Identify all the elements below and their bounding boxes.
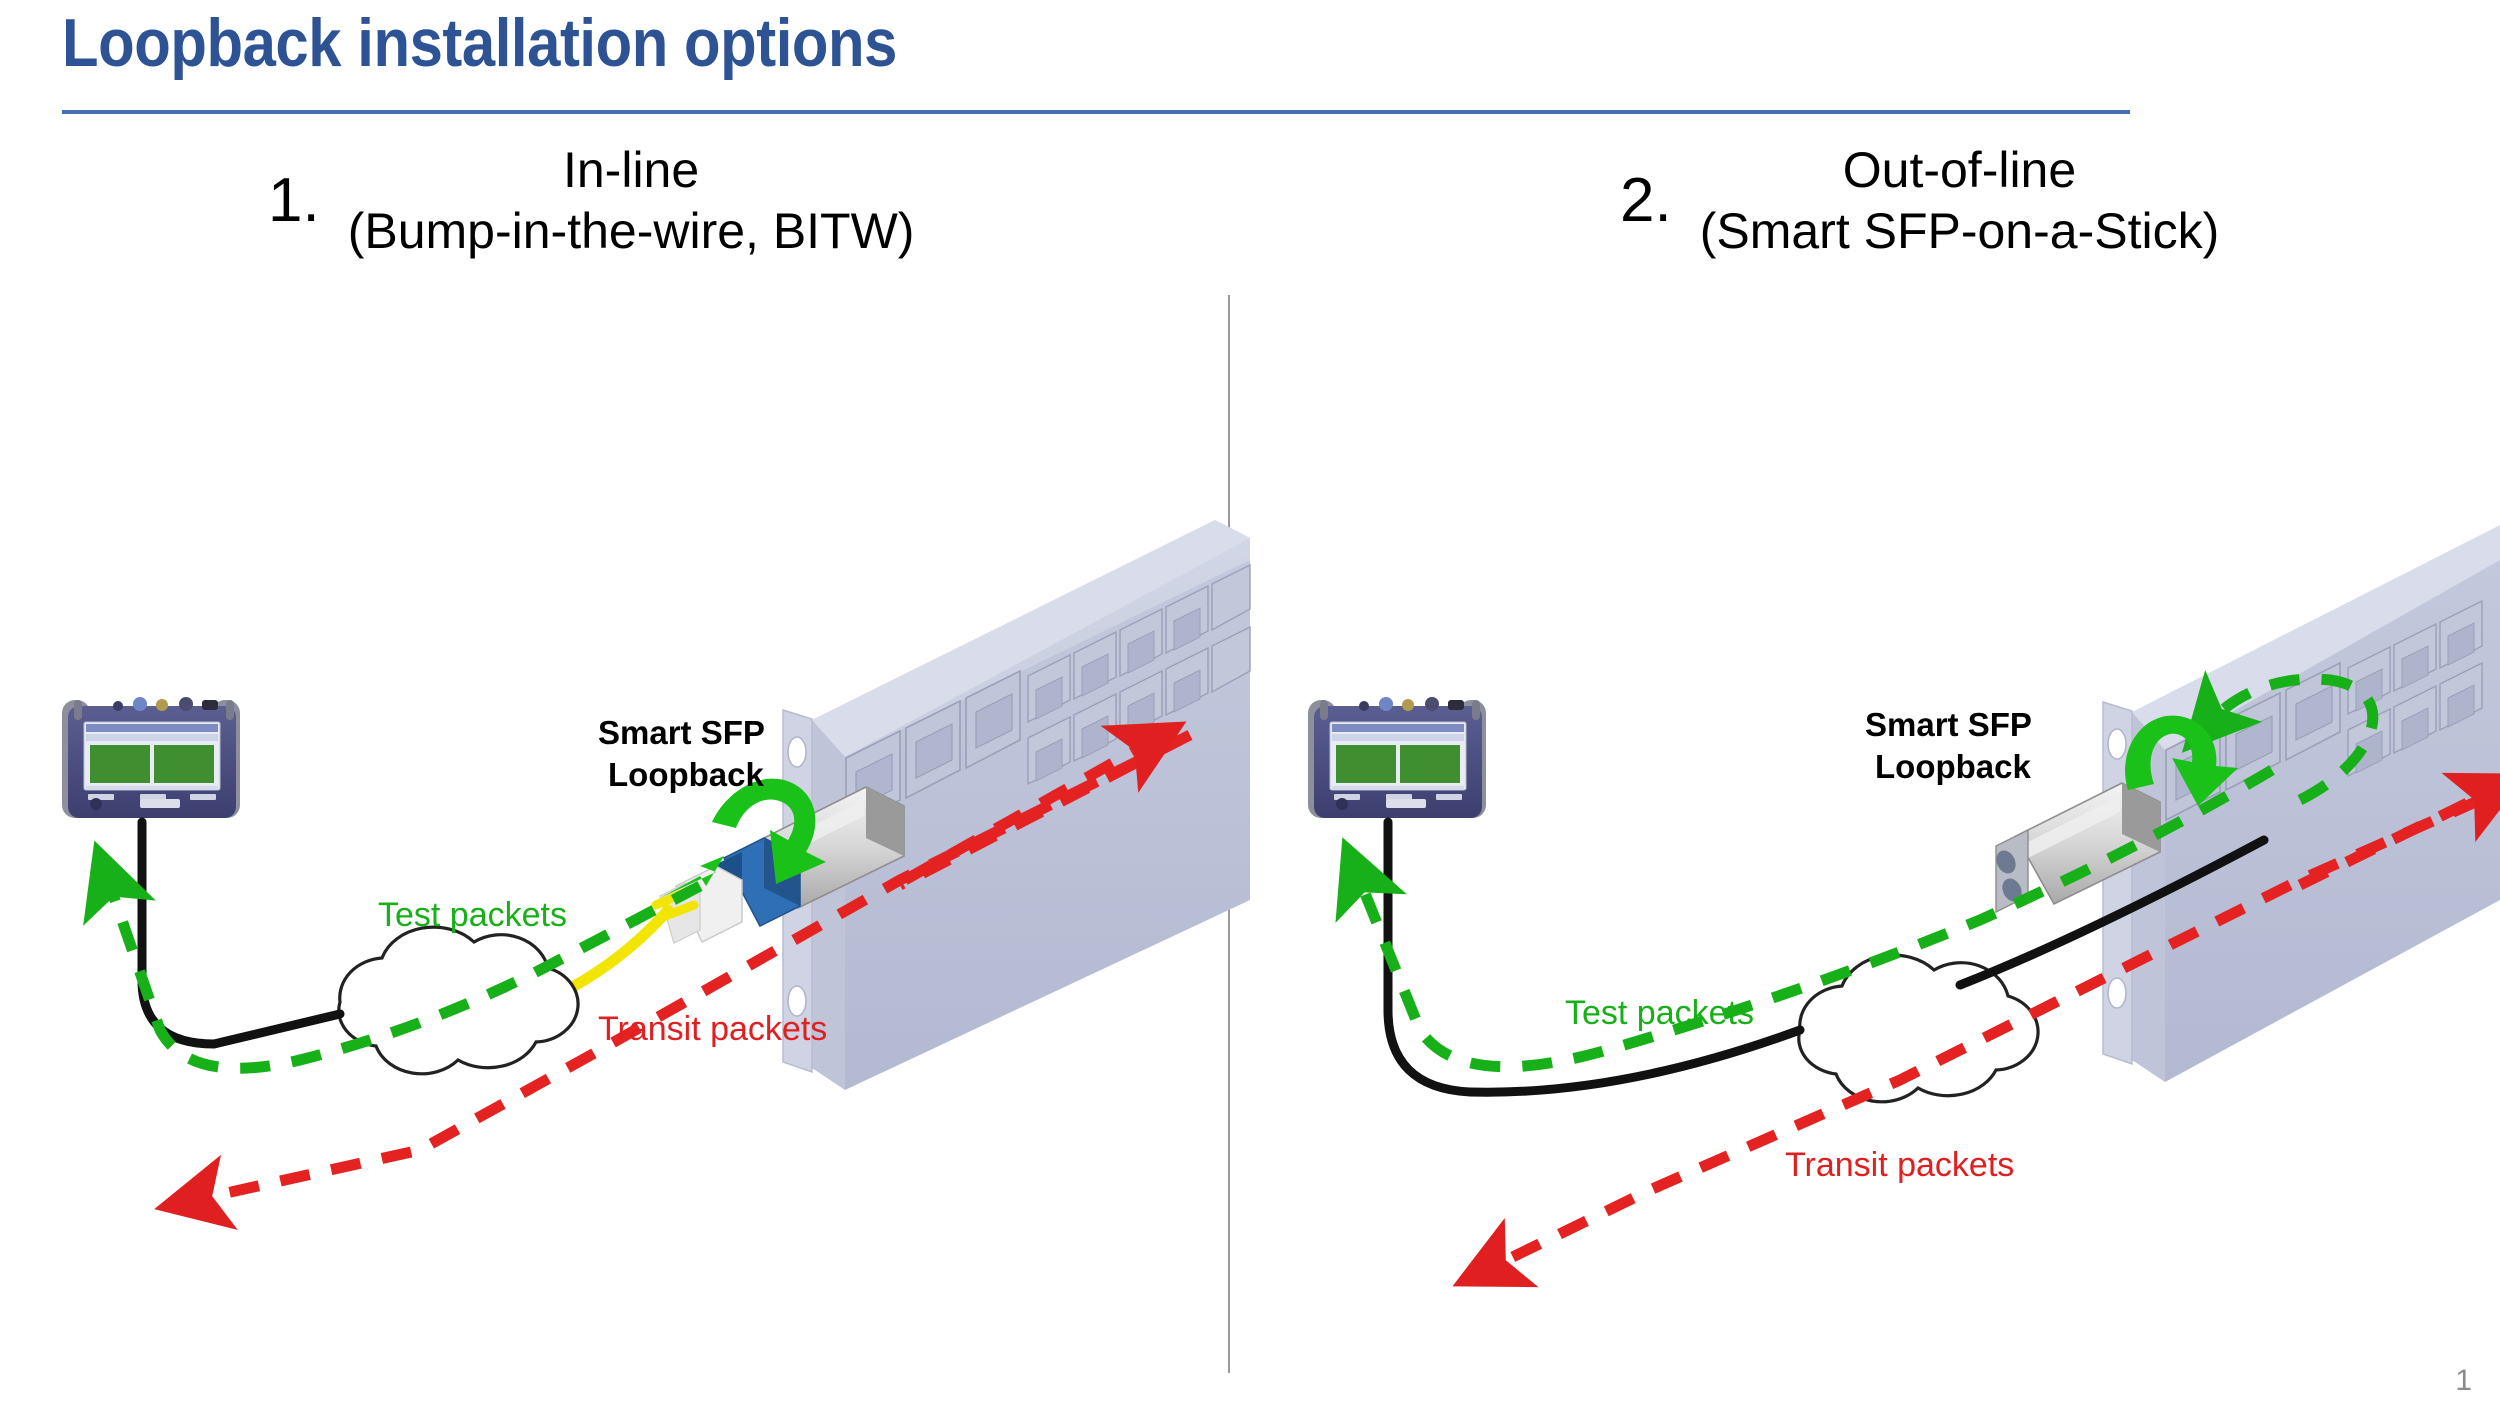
test-packets-label-right: Test packets (1565, 994, 1754, 1032)
test-packet-loop-right (2210, 679, 2373, 800)
column-2-number: 2. (1620, 170, 1672, 232)
network-cloud-right (1799, 955, 2038, 1102)
column-2-title-line2: (Smart SFP-on-a-Stick) (1700, 201, 2220, 262)
column-1-heading: 1. In-line (Bump-in-the-wire, BITW) (268, 140, 914, 262)
sfp-label-left-line1: Smart SFP (598, 714, 765, 751)
loop-arrow-left (712, 779, 826, 884)
network-cloud-left (339, 927, 578, 1074)
transit-packets-label-left: Transit packets (598, 1010, 827, 1048)
handheld-tester-right (1308, 697, 1486, 818)
rack-switch-right (2103, 525, 2500, 1082)
column-divider (1228, 295, 1230, 1373)
column-1-title-line1: In-line (348, 140, 915, 201)
column-2-title: Out-of-line (Smart SFP-on-a-Stick) (1700, 140, 2220, 262)
page-title: Loopback installation options (62, 8, 897, 79)
title-underline (62, 110, 2130, 114)
sfp-label-right-line1: Smart SFP (1865, 706, 2032, 743)
handheld-tester-left (62, 697, 240, 818)
transit-packets-label-right: Transit packets (1785, 1146, 2014, 1184)
column-1-title: In-line (Bump-in-the-wire, BITW) (348, 140, 915, 262)
smart-sfp-module-right (1993, 783, 2160, 912)
copper-cable-right-2 (1960, 840, 2264, 985)
test-packets-label-left: Test packets (378, 896, 567, 934)
copper-cable-right (1388, 822, 1800, 1092)
test-packet-path-right (1358, 770, 2272, 1067)
transit-packet-arrow-up-right (2300, 792, 2490, 885)
column-1-title-line2: (Bump-in-the-wire, BITW) (348, 201, 915, 262)
rack-switch-left (783, 520, 1250, 1090)
sfp-label-right-line2: Loopback (1875, 748, 2031, 785)
fiber-patch-cable-left (548, 910, 668, 1000)
slide-canvas: Loopback installation options 1. In-line… (0, 0, 2500, 1406)
test-packet-path-left (108, 880, 700, 1068)
smart-sfp-module-left (660, 787, 904, 943)
loop-arrow-right (2125, 716, 2238, 806)
transit-packet-path-left (195, 735, 1190, 1200)
sfp-label-left-line2: Loopback (608, 756, 764, 793)
transit-packet-path-right (1490, 800, 2480, 1268)
column-2-title-line1: Out-of-line (1700, 140, 2220, 201)
column-2-heading: 2. Out-of-line (Smart SFP-on-a-Stick) (1620, 140, 2219, 262)
page-number: 1 (2455, 1364, 2472, 1398)
transit-packet-arrow-up-left (905, 742, 1150, 880)
column-1-number: 1. (268, 170, 320, 232)
copper-cable-left (142, 822, 340, 1044)
